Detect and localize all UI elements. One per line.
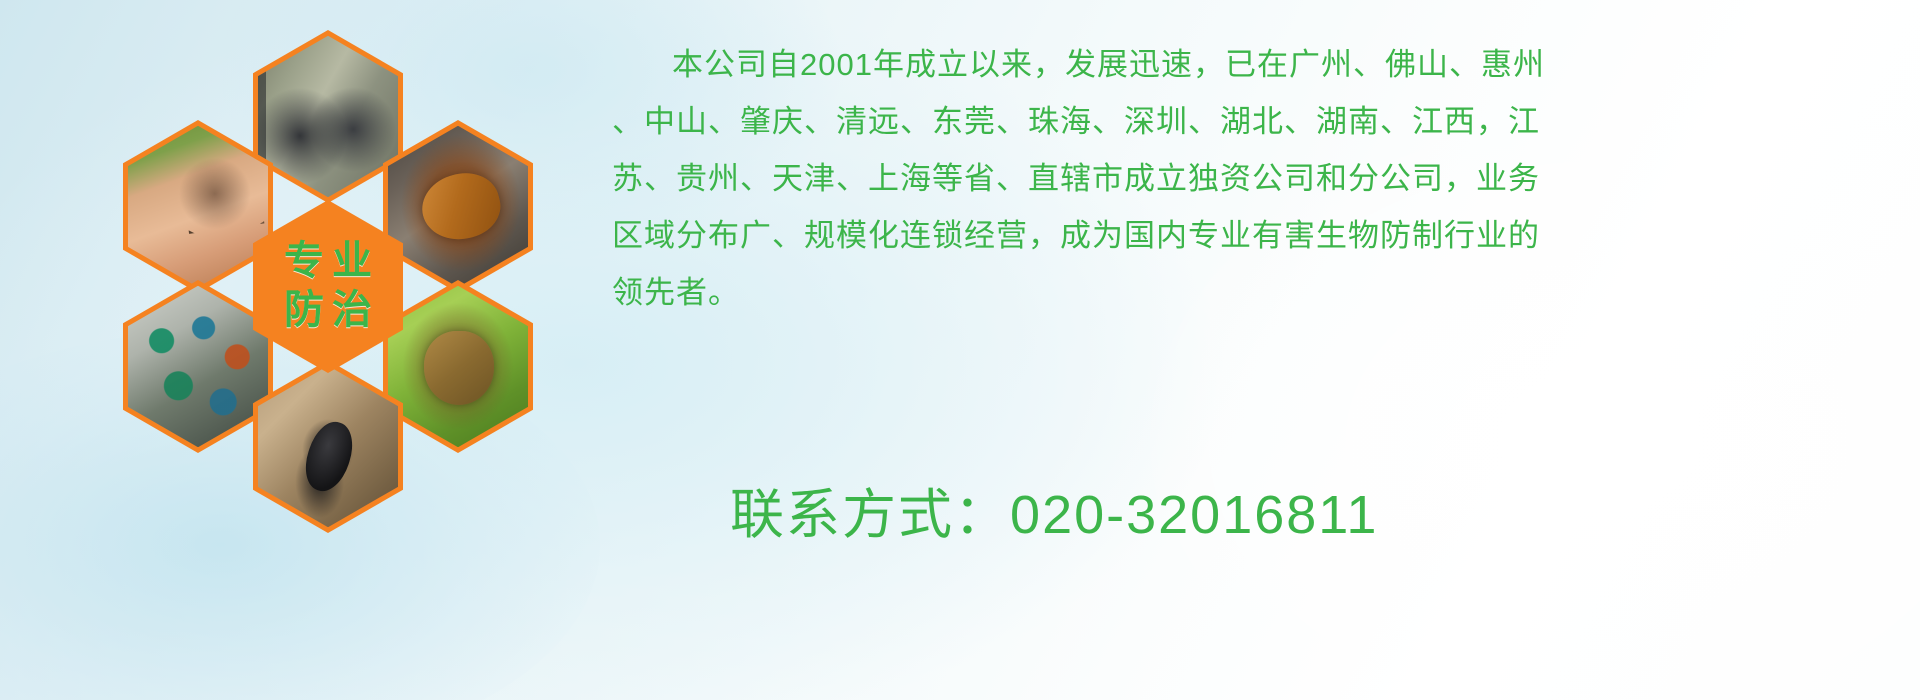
slogan-line-2: 防治 bbox=[276, 289, 380, 332]
slogan-text: 专业 防治 bbox=[258, 206, 398, 367]
hex-inner-rats bbox=[258, 36, 398, 197]
hex-inner-cockroach bbox=[388, 126, 528, 287]
rats-photo bbox=[258, 36, 398, 197]
hex-inner-slogan: 专业 防治 bbox=[258, 206, 398, 367]
stinkbug-photo bbox=[388, 286, 528, 447]
cockroach-photo bbox=[388, 126, 528, 287]
copy-column: 本公司自2001年成立以来，发展迅速，已在广州、佛山、惠州 、中山、肇庆、清远、… bbox=[612, 36, 1918, 321]
hex-inner-mosquito bbox=[128, 126, 268, 287]
contact-label: 联系方式： bbox=[730, 485, 1010, 545]
intro-paragraph: 本公司自2001年成立以来，发展迅速，已在广州、佛山、惠州 、中山、肇庆、清远、… bbox=[612, 36, 1918, 321]
intro-line-1: 本公司自2001年成立以来，发展迅速，已在广州、佛山、惠州 bbox=[612, 36, 1918, 93]
honeycomb-image-cluster: 专业 防治 bbox=[95, 8, 595, 568]
hex-inner-ant bbox=[258, 366, 398, 527]
hex-cell-flies[interactable] bbox=[123, 280, 273, 453]
hex-cell-stinkbug[interactable] bbox=[383, 280, 533, 453]
hex-cell-ant[interactable] bbox=[253, 360, 403, 533]
contact-primary-line: 联系方式：020-32016811 bbox=[628, 404, 1396, 626]
contact-block: 联系方式：020-32016811 159-1588-1110 bbox=[628, 404, 1396, 700]
hex-inner-flies bbox=[128, 286, 268, 447]
mosquito-photo bbox=[128, 126, 268, 287]
contact-secondary-line: 159-1588-1110 bbox=[628, 626, 1396, 700]
hex-cell-cockroach[interactable] bbox=[383, 120, 533, 293]
flies-photo bbox=[128, 286, 268, 447]
promo-banner: 专业 防治 本公司自2001年成立以来，发展迅速，已在广州、佛山、惠州 、中山、… bbox=[0, 0, 1920, 700]
hex-cell-slogan: 专业 防治 bbox=[253, 200, 403, 373]
intro-line-3: 苏、贵州、天津、上海等省、直辖市成立独资公司和分公司，业务 bbox=[612, 150, 1918, 207]
slogan-line-1: 专业 bbox=[276, 240, 380, 283]
intro-line-2: 、中山、肇庆、清远、东莞、珠海、深圳、湖北、湖南、江西，江 bbox=[612, 93, 1918, 150]
intro-line-4: 区域分布广、规模化连锁经营，成为国内专业有害生物防制行业的 bbox=[612, 207, 1918, 264]
ant-photo bbox=[258, 366, 398, 527]
hex-cell-rats[interactable] bbox=[253, 30, 403, 203]
hex-cell-mosquito[interactable] bbox=[123, 120, 273, 293]
intro-line-5: 领先者。 bbox=[612, 264, 1918, 321]
phone-primary[interactable]: 020-32016811 bbox=[1010, 485, 1378, 545]
hex-inner-stinkbug bbox=[388, 286, 528, 447]
